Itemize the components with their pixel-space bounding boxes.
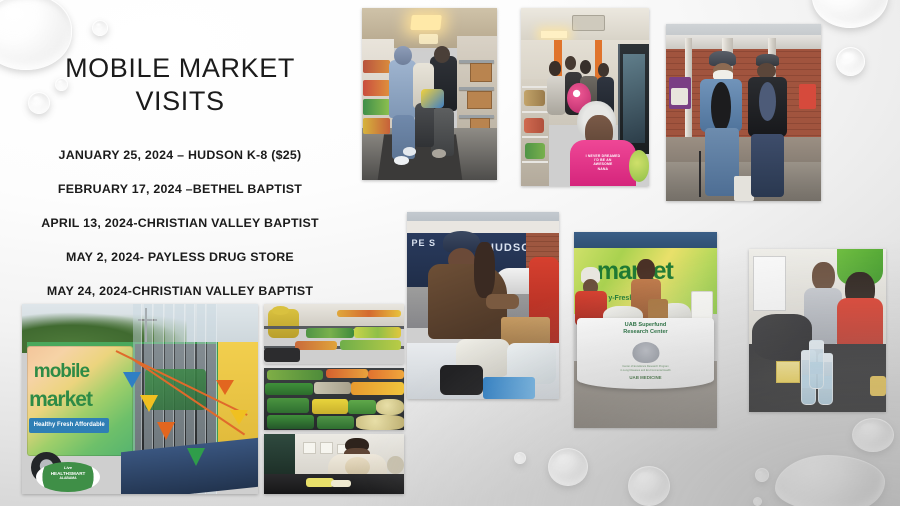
- pennant-flag-icon: [216, 380, 234, 395]
- bubble-icon: [548, 448, 588, 486]
- visit-list: JANUARY 25, 2024 – HUDSON K-8 ($25) FEBR…: [0, 148, 360, 298]
- photo-market-truck-aisle: [362, 8, 497, 180]
- pennant-flag-icon: [123, 372, 141, 388]
- bubble-icon: [836, 47, 865, 76]
- list-item: JANUARY 25, 2024 – HUDSON K-8 ($25): [0, 148, 360, 162]
- list-item: FEBRUARY 17, 2024 –BETHEL BAPTIST: [0, 182, 360, 196]
- pennant-flag-icon: [157, 422, 175, 440]
- photo-mobile-market-trailer: mobile market Healthy Fresh Affordable L…: [22, 304, 258, 494]
- bubble-icon: [92, 20, 108, 36]
- text-column: MOBILE MARKET VISITS JANUARY 25, 2024 – …: [0, 52, 360, 318]
- page-title: MOBILE MARKET VISITS: [0, 52, 360, 118]
- bubble-icon: [852, 418, 894, 452]
- pennant-flag-icon: [187, 448, 205, 466]
- bubble-icon: [514, 452, 526, 464]
- list-item: MAY 2, 2024- PAYLESS DRUG STORE: [0, 250, 360, 264]
- photo-man-packing: [264, 434, 404, 494]
- photo-woman-at-supply-table: PE S HUDSON: [407, 212, 559, 399]
- title-line-2: VISITS: [26, 85, 334, 118]
- bubble-icon: [812, 0, 888, 28]
- photo-uab-superfund-booth: market y-Fresh ordable UAB SuperfundRese…: [574, 232, 717, 428]
- uab-medicine-logo: UAB MEDICINE: [574, 375, 717, 380]
- bubble-icon: [753, 497, 762, 506]
- bubble-icon: [628, 466, 670, 506]
- pennant-flag-icon: [140, 395, 158, 412]
- list-item: MAY 24, 2024-CHRISTIAN VALLEY BAPTIST: [0, 284, 360, 298]
- pennant-flag-icon: [230, 410, 248, 425]
- slide-canvas: MOBILE MARKET VISITS JANUARY 25, 2024 – …: [0, 0, 900, 506]
- photo-shoppers-pink-shirt: I NEVER DREAMEDI'D BE ANAWESOMENANA: [521, 8, 649, 186]
- title-line-1: MOBILE MARKET: [26, 52, 334, 85]
- photo-two-men-outside: [666, 24, 821, 201]
- photo-produce-shelves: [264, 368, 404, 430]
- list-item: APRIL 13, 2024-CHRISTIAN VALLEY BAPTIST: [0, 216, 360, 230]
- bubble-icon: [775, 455, 885, 506]
- uab-banner-title: UAB SuperfundResearch Center: [574, 322, 717, 335]
- photo-water-bottle-table: [749, 249, 886, 412]
- photo-produce-display-top: [264, 304, 404, 364]
- bubble-icon: [755, 468, 769, 482]
